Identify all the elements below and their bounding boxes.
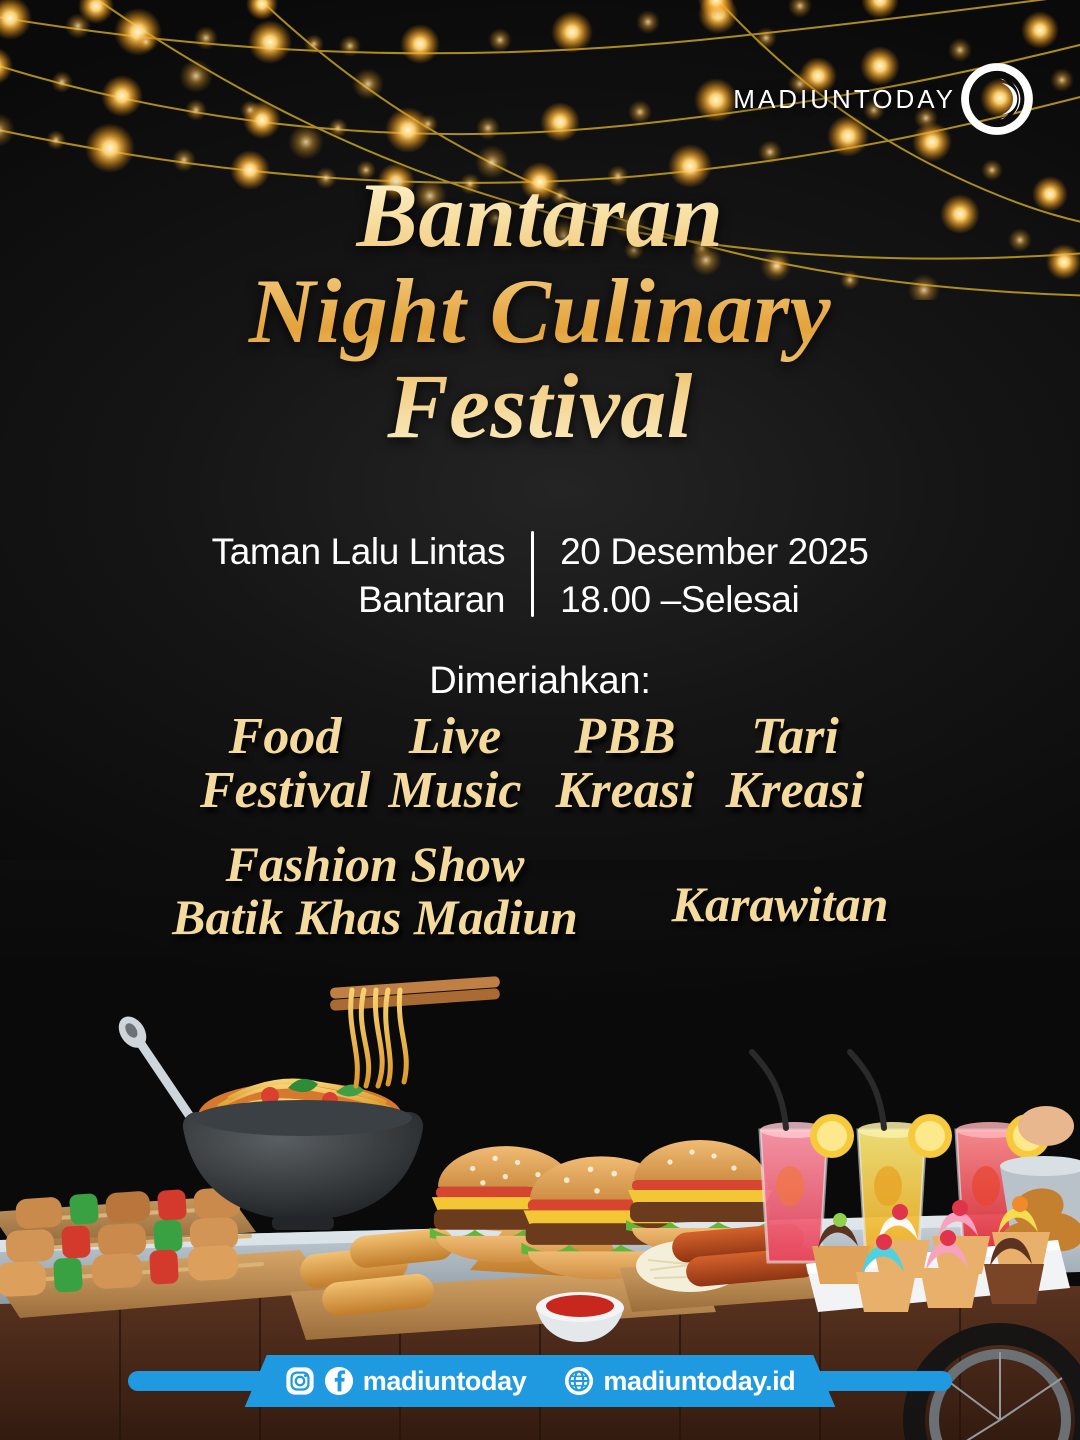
lineup-item-pbb-kreasi: PBB Kreasi — [540, 710, 710, 817]
venue-line-1: Taman Lalu Lintas — [212, 528, 506, 576]
lineup-item-line-1: Karawitan — [615, 878, 945, 931]
poster-canvas: MADIUNTODAY Bantaran Night Culinary Fest… — [0, 0, 1080, 1440]
lineup-item-line-2: Kreasi — [540, 764, 710, 818]
brand-logo-text: MADIUNTODAY — [733, 84, 956, 115]
date-line-1: 20 Desember 2025 — [560, 528, 868, 576]
swirl-crescent-icon — [958, 60, 1036, 138]
page-title: Bantaran Night Culinary Festival — [0, 168, 1080, 455]
instagram-icon[interactable] — [285, 1366, 315, 1396]
title-line-2: Night Culinary — [0, 264, 1080, 360]
lineup-item-line-1: Tari — [710, 710, 880, 764]
brand-logo: MADIUNTODAY — [733, 60, 1036, 138]
lineup-item-line-2: Kreasi — [710, 764, 880, 818]
lineup-item-line-1: Fashion Show — [135, 838, 615, 891]
lineup-item-food-festival: Food Festival — [200, 710, 370, 817]
website-group[interactable]: madiuntoday.id — [564, 1366, 795, 1397]
social-handle-group[interactable]: madiuntoday — [285, 1366, 527, 1397]
footer-social-bar: madiuntoday madiuntoday.id — [0, 1355, 1080, 1407]
title-line-3: Festival — [0, 359, 1080, 455]
lineup-item-karawitan: Karawitan — [615, 838, 945, 931]
event-venue: Taman Lalu Lintas Bantaran — [212, 528, 532, 623]
title-line-1: Bantaran — [0, 168, 1080, 264]
footer-handle: madiuntoday madiuntoday.id — [245, 1355, 836, 1407]
facebook-icon[interactable] — [324, 1366, 354, 1396]
lineup-item-line-1: PBB — [540, 710, 710, 764]
lineup-item-line-2: Festival — [200, 764, 370, 818]
website-text: madiuntoday.id — [603, 1366, 795, 1397]
social-handle-text: madiuntoday — [363, 1366, 527, 1397]
lineup-item-line-2: Batik Khas Madiun — [135, 891, 615, 944]
event-datetime: 20 Desember 2025 18.00 –Selesai — [534, 528, 868, 623]
lineup-item-line-1: Live — [370, 710, 540, 764]
date-line-2: 18.00 –Selesai — [560, 576, 868, 624]
lineup-item-live-music: Live Music — [370, 710, 540, 817]
globe-icon[interactable] — [564, 1366, 594, 1396]
lineup-row-1: Food Festival Live Music PBB Kreasi Tari… — [0, 710, 1080, 817]
lineup-item-tari-kreasi: Tari Kreasi — [710, 710, 880, 817]
lineup-item-fashion-show: Fashion Show Batik Khas Madiun — [135, 838, 615, 943]
lineup-item-line-1: Food — [200, 710, 370, 764]
lineup-label: Dimeriahkan: — [0, 660, 1080, 703]
venue-line-2: Bantaran — [212, 576, 506, 624]
event-info: Taman Lalu Lintas Bantaran 20 Desember 2… — [0, 528, 1080, 623]
lineup-row-2: Fashion Show Batik Khas Madiun Karawitan — [0, 838, 1080, 943]
lineup-item-line-2: Music — [370, 764, 540, 818]
